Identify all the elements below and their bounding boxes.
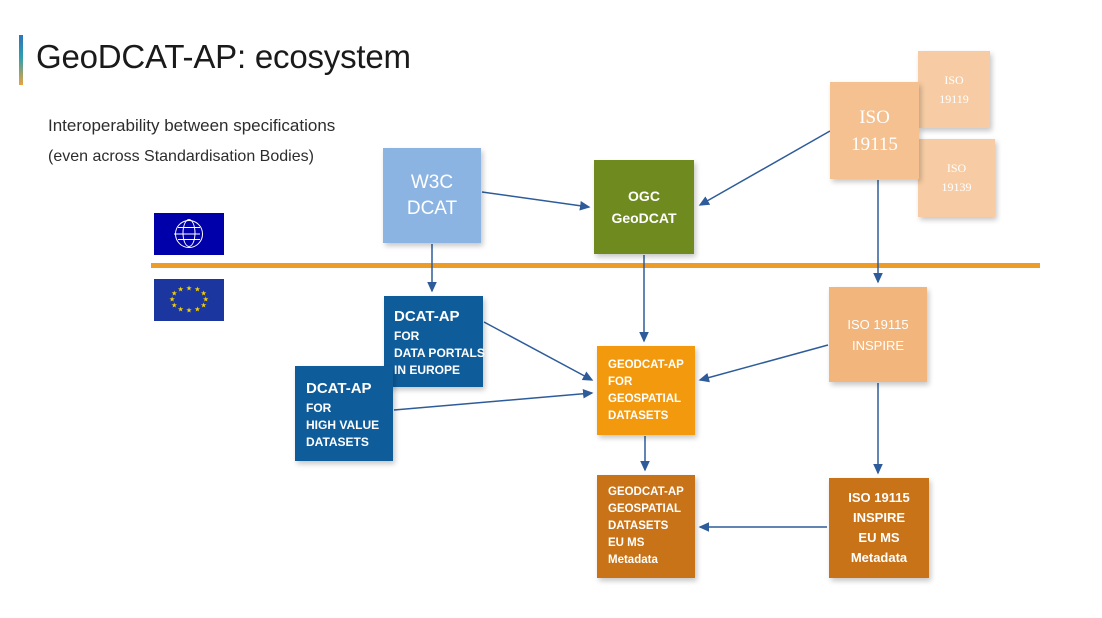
node-w3c-dcat[interactable]: W3C DCAT <box>383 148 481 243</box>
title-accent-bar <box>19 35 23 85</box>
node-geodcat-ap-geospatial-datasets[interactable]: GEODCAT-AP FOR GEOSPATIAL DATASETS <box>597 346 695 435</box>
node-ogc-geodcat[interactable]: OGC GeoDCAT <box>594 160 694 254</box>
node-line: GEODCAT-AP <box>608 357 684 374</box>
eu-star-icon: ★ <box>177 306 183 313</box>
globe-latitude-line <box>178 227 200 228</box>
node-line: FOR <box>394 328 419 345</box>
international-globe-flag <box>154 213 224 255</box>
node-line: DATASETS <box>608 518 668 535</box>
node-line: DCAT-AP <box>306 377 372 400</box>
node-line: DATASETS <box>608 408 668 425</box>
node-line: ISO <box>947 159 966 178</box>
node-line: GEODCAT-AP <box>608 484 684 501</box>
node-iso-19115-inspire-eu-ms-metadata[interactable]: ISO 19115 INSPIRE EU MS Metadata <box>829 478 929 578</box>
page-title: GeoDCAT-AP: ecosystem <box>36 38 411 76</box>
node-line: DCAT <box>407 196 457 222</box>
node-line: IN EUROPE <box>394 362 460 379</box>
node-line: FOR <box>306 400 331 417</box>
eu-star-icon: ★ <box>186 307 192 314</box>
subtitle-line-1: Interoperability between specifications <box>48 116 335 136</box>
eu-star-icon: ★ <box>186 286 192 293</box>
node-iso-19115[interactable]: ISO 19115 <box>830 82 919 179</box>
node-line: DATASETS <box>306 434 369 451</box>
node-line: EU MS <box>858 528 899 548</box>
node-line: HIGH VALUE <box>306 417 379 434</box>
node-line: GeoDCAT <box>611 207 676 229</box>
node-line: EU MS <box>608 535 644 552</box>
eu-star-icon: ★ <box>194 306 200 313</box>
node-iso-19139[interactable]: ISO 19139 <box>918 139 995 217</box>
eu-star-icon: ★ <box>177 287 183 294</box>
node-line: ISO 19115 <box>848 488 909 508</box>
node-line: 19119 <box>939 90 969 109</box>
node-iso-19119[interactable]: ISO 19119 <box>918 51 990 128</box>
node-line: GEOSPATIAL <box>608 501 681 518</box>
node-line: ISO <box>859 104 890 131</box>
node-line: INSPIRE <box>852 335 904 356</box>
node-line: Metadata <box>851 548 907 568</box>
node-line: ISO <box>944 71 963 90</box>
globe-latitude-line <box>178 239 200 240</box>
node-line: FOR <box>608 374 632 391</box>
international-eu-divider <box>151 263 1040 268</box>
node-line: 19139 <box>942 178 972 197</box>
node-line: OGC <box>628 185 660 207</box>
slide-canvas: GeoDCAT-AP: ecosystem Interoperability b… <box>0 0 1102 618</box>
node-line: DATA PORTALS <box>394 345 485 362</box>
node-iso-19115-inspire[interactable]: ISO 19115 INSPIRE <box>829 287 927 382</box>
globe-icon <box>175 220 203 248</box>
node-line: Metadata <box>608 552 658 569</box>
node-line: GEOSPATIAL <box>608 391 681 408</box>
node-line: ISO 19115 <box>847 314 908 335</box>
european-union-flag: ★ ★ ★ ★ ★ ★ ★ ★ ★ ★ ★ ★ <box>154 279 224 321</box>
node-dcat-ap-data-portals-europe[interactable]: DCAT-AP FOR DATA PORTALS IN EUROPE <box>384 296 483 387</box>
node-line: DCAT-AP <box>394 305 460 328</box>
eu-star-icon: ★ <box>201 302 207 309</box>
subtitle-line-2: (even across Standardisation Bodies) <box>48 148 314 166</box>
node-line: W3C <box>411 170 453 196</box>
node-dcat-ap-high-value-datasets[interactable]: DCAT-AP FOR HIGH VALUE DATASETS <box>295 366 393 461</box>
node-line: 19115 <box>851 131 898 158</box>
node-line: INSPIRE <box>853 508 905 528</box>
node-geodcat-ap-eu-ms-metadata[interactable]: GEODCAT-AP GEOSPATIAL DATASETS EU MS Met… <box>597 475 695 578</box>
